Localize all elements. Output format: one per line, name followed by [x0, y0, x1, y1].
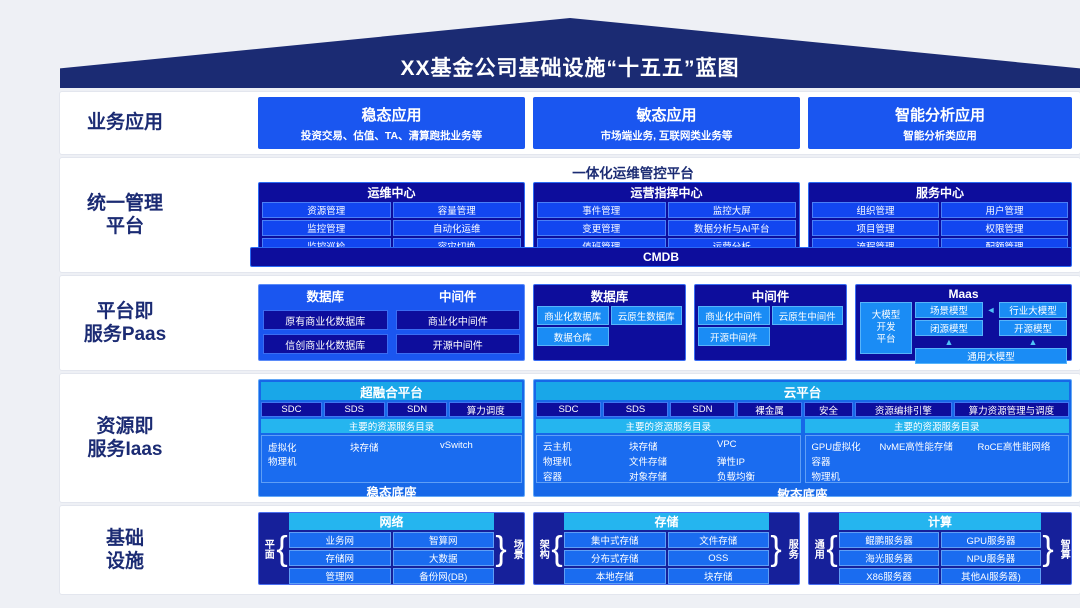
- layer-body-infrastructure: 平面 { 网络 业务网 智算网 存储网 大数据 管理网 备份网(DB): [194, 506, 1072, 594]
- storage-item[interactable]: 块存储: [668, 568, 770, 584]
- cloud-tag[interactable]: SDC: [536, 402, 601, 417]
- cloud-service[interactable]: 对象存储: [629, 469, 667, 483]
- network-title: 网络: [289, 513, 494, 530]
- hci-service[interactable]: 虚拟化: [268, 440, 297, 454]
- maas-closed-model[interactable]: 闭源模型: [915, 320, 983, 336]
- biz-card-analytics[interactable]: 智能分析应用 智能分析类应用: [808, 97, 1072, 149]
- paas-mw-title: 中间件: [396, 285, 521, 306]
- cloud-footer: 敏态底座: [534, 485, 1071, 502]
- network-item[interactable]: 存储网: [289, 550, 391, 566]
- layer-label-line1: 统一管理: [87, 192, 163, 215]
- storage-item[interactable]: 本地存储: [564, 568, 666, 584]
- maas-general-model[interactable]: 通用大模型: [915, 348, 1067, 364]
- brace-left-icon: {: [825, 532, 839, 566]
- layer-label-line2: 服务Iaas: [88, 438, 163, 461]
- cloud-service[interactable]: 文件存储: [629, 454, 667, 468]
- cloud-service[interactable]: VPC: [717, 439, 737, 450]
- group-item[interactable]: 权限管理: [941, 220, 1068, 236]
- group-item[interactable]: 变更管理: [537, 220, 666, 236]
- cloud-service[interactable]: NvME高性能存储: [880, 439, 953, 453]
- hci-tag[interactable]: SDS: [324, 402, 385, 417]
- compute-title: 计算: [839, 513, 1041, 530]
- hci-service[interactable]: vSwitch: [440, 440, 473, 451]
- paas-mw-item[interactable]: 开源中间件: [396, 334, 521, 354]
- group-item[interactable]: 监控管理: [262, 220, 391, 236]
- group-item[interactable]: 组织管理: [812, 202, 939, 218]
- compute-item[interactable]: 鲲鹏服务器: [839, 532, 939, 548]
- paas-db-title: 数据库: [263, 285, 388, 306]
- group-item[interactable]: 事件管理: [537, 202, 666, 218]
- cloud-service-list-left: 云主机 块存储 VPC 物理机 文件存储 弹性IP 容器 对象存储 负载均衡: [536, 435, 801, 483]
- compute-item[interactable]: NPU服务器: [941, 550, 1041, 566]
- network-item[interactable]: 智算网: [393, 532, 495, 548]
- network-right-label: 场景: [508, 513, 524, 584]
- layer-business-application: 业务应用 稳态应用 投资交易、估值、TA、清算跑批业务等 敏态应用 市场端业务,…: [60, 92, 1080, 154]
- paas-mw-item[interactable]: 开源中间件: [698, 327, 770, 346]
- group-item[interactable]: 项目管理: [812, 220, 939, 236]
- paas-db-item[interactable]: 信创商业化数据库: [263, 334, 388, 354]
- paas-mw-item[interactable]: 商业化中间件: [396, 310, 521, 330]
- iaas-hci-platform[interactable]: 超融合平台 SDC SDS SDN 算力调度 主要的资源服务目录 虚拟化 块存储…: [258, 379, 525, 497]
- compute-item[interactable]: 海光服务器: [839, 550, 939, 566]
- maas-dev-platform-line3: 平台: [876, 334, 895, 346]
- cloud-service[interactable]: 物理机: [812, 469, 841, 483]
- cloud-tag[interactable]: 算力资源管理与调度: [954, 402, 1069, 417]
- network-items: 业务网 智算网 存储网 大数据 管理网 备份网(DB): [289, 532, 494, 584]
- compute-item[interactable]: GPU服务器: [941, 532, 1041, 548]
- hci-tag[interactable]: 算力调度: [449, 402, 522, 417]
- infra-network-block[interactable]: 平面 { 网络 业务网 智算网 存储网 大数据 管理网 备份网(DB): [258, 512, 525, 585]
- compute-items: 鲲鹏服务器 GPU服务器 海光服务器 NPU服务器 X86服务器 其他AI服务器…: [839, 532, 1041, 584]
- cloud-tag[interactable]: SDN: [670, 402, 735, 417]
- hci-tag[interactable]: SDN: [387, 402, 448, 417]
- layer-label-infrastructure: 基础 设施: [60, 506, 190, 594]
- cloud-service[interactable]: GPU虚拟化: [812, 439, 861, 453]
- cloud-catalog-title-right: 主要的资源服务目录: [805, 419, 1070, 433]
- maas-title: Maas: [856, 285, 1071, 302]
- layer-label-line1: 平台即: [84, 300, 166, 323]
- cloud-service[interactable]: 块存储: [629, 439, 658, 453]
- layer-infrastructure: 基础 设施 平面 { 网络 业务网 智算网 存储网 大数据: [60, 506, 1080, 594]
- biz-card-stable[interactable]: 稳态应用 投资交易、估值、TA、清算跑批业务等: [258, 97, 525, 149]
- paas-db-item[interactable]: 数据仓库: [537, 327, 609, 346]
- hci-service[interactable]: 块存储: [350, 440, 379, 454]
- maas-open-model[interactable]: 开源模型: [999, 320, 1067, 336]
- cloud-service[interactable]: 物理机: [543, 454, 572, 468]
- storage-item[interactable]: 分布式存储: [564, 550, 666, 566]
- compute-right-label: 智算: [1055, 513, 1071, 584]
- paas-db-title: 数据库: [534, 285, 685, 306]
- layer-paas: 平台即 服务Paas 数据库 原有商业化数据库 信创商业化数据库 中间件 商业化…: [60, 276, 1080, 370]
- maas-dev-platform-line2: 开发: [876, 322, 895, 334]
- group-item[interactable]: 监控大屏: [668, 202, 797, 218]
- hci-service-list: 虚拟化 块存储 vSwitch 物理机: [261, 435, 522, 483]
- storage-title: 存储: [564, 513, 769, 530]
- cloud-service[interactable]: 负载均衡: [717, 469, 755, 483]
- page-title: XX基金公司基础设施“十五五”蓝图: [60, 52, 1080, 82]
- network-item[interactable]: 管理网: [289, 568, 391, 584]
- paas-db-item[interactable]: 云原生数据库: [611, 306, 683, 325]
- group-title: 运维中心: [259, 183, 524, 202]
- cloud-tag[interactable]: 资源编排引擎: [855, 402, 951, 417]
- maas-dev-platform-line1: 大模型: [872, 310, 901, 322]
- brace-left-icon: {: [275, 532, 289, 566]
- brace-right-icon: }: [1041, 532, 1055, 566]
- paas-maas-group[interactable]: Maas 大模型 开发 平台 场景模型 ◄ 行业大模型: [855, 284, 1072, 361]
- layer-body-business: 稳态应用 投资交易、估值、TA、清算跑批业务等 敏态应用 市场端业务, 互联网类…: [194, 92, 1072, 154]
- paas-agile-middleware[interactable]: 中间件 商业化中间件 云原生中间件 开源中间件: [694, 284, 847, 361]
- cloud-title: 云平台: [536, 382, 1069, 400]
- group-item[interactable]: 用户管理: [941, 202, 1068, 218]
- blueprint-diagram: XX基金公司基础设施“十五五”蓝图 业务应用 稳态应用 投资交易、估值、TA、清…: [0, 0, 1080, 608]
- cloud-service[interactable]: RoCE高性能网络: [978, 439, 1051, 453]
- group-item[interactable]: 自动化运维: [393, 220, 522, 236]
- group-item[interactable]: 数据分析与AI平台: [668, 220, 797, 236]
- cmdb-bar[interactable]: CMDB: [250, 247, 1072, 267]
- brace-left-icon: {: [550, 532, 564, 566]
- paas-mw-item[interactable]: 商业化中间件: [698, 306, 770, 325]
- maas-scene-model[interactable]: 场景模型: [915, 302, 983, 318]
- network-item[interactable]: 大数据: [393, 550, 495, 566]
- paas-agile-database[interactable]: 数据库 商业化数据库 云原生数据库 数据仓库: [533, 284, 686, 361]
- layer-label-business: 业务应用: [60, 92, 190, 154]
- biz-card-sub: 投资交易、估值、TA、清算跑批业务等: [301, 128, 482, 143]
- hci-footer: 稳态底座: [259, 483, 524, 500]
- storage-item[interactable]: 文件存储: [668, 532, 770, 548]
- maas-dev-platform[interactable]: 大模型 开发 平台: [860, 302, 912, 354]
- hci-title: 超融合平台: [261, 382, 522, 400]
- storage-item[interactable]: OSS: [668, 550, 770, 566]
- roof-banner: XX基金公司基础设施“十五五”蓝图: [60, 18, 1080, 88]
- biz-card-agile[interactable]: 敏态应用 市场端业务, 互联网类业务等: [533, 97, 800, 149]
- cloud-tag[interactable]: 安全: [804, 402, 853, 417]
- layer-body-iaas: 超融合平台 SDC SDS SDN 算力调度 主要的资源服务目录 虚拟化 块存储…: [194, 374, 1072, 502]
- storage-item[interactable]: 集中式存储: [564, 532, 666, 548]
- cloud-catalog-title-left: 主要的资源服务目录: [536, 419, 801, 433]
- paas-mw-item[interactable]: 云原生中间件: [772, 306, 844, 325]
- cloud-tag[interactable]: 裸金属: [737, 402, 802, 417]
- group-title: 服务中心: [809, 183, 1071, 202]
- brace-right-icon: }: [769, 532, 783, 566]
- arrow-up-icon: ▲: [915, 338, 983, 346]
- cloud-service[interactable]: 云主机: [543, 439, 572, 453]
- cloud-tag[interactable]: SDS: [603, 402, 668, 417]
- network-item[interactable]: 业务网: [289, 532, 391, 548]
- hci-service[interactable]: 物理机: [268, 454, 297, 468]
- cloud-service[interactable]: 容器: [812, 454, 831, 468]
- layer-label-paas: 平台即 服务Paas: [60, 276, 190, 370]
- layer-label-line1: 基础: [106, 527, 144, 550]
- group-item[interactable]: 资源管理: [262, 202, 391, 218]
- storage-right-label: 服务: [783, 513, 799, 584]
- layer-label-line2: 设施: [106, 550, 144, 573]
- cloud-service[interactable]: 容器: [543, 469, 562, 483]
- hci-catalog-title: 主要的资源服务目录: [261, 419, 522, 433]
- paas-db-item[interactable]: 原有商业化数据库: [263, 310, 388, 330]
- infra-compute-block[interactable]: 通用 { 计算 鲲鹏服务器 GPU服务器 海光服务器 NPU服务器 X86服务器…: [808, 512, 1072, 585]
- paas-mw-title: 中间件: [695, 285, 846, 306]
- layer-body-paas: 数据库 原有商业化数据库 信创商业化数据库 中间件 商业化中间件 开源中间件 数…: [194, 276, 1072, 370]
- biz-card-title: 敏态应用: [636, 104, 696, 125]
- paas-db-item[interactable]: 商业化数据库: [537, 306, 609, 325]
- brace-right-icon: }: [494, 532, 508, 566]
- storage-items: 集中式存储 文件存储 分布式存储 OSS 本地存储 块存储: [564, 532, 769, 584]
- compute-left-label: 通用: [809, 513, 825, 584]
- cloud-service-list-right: GPU虚拟化 NvME高性能存储 RoCE高性能网络 容器 物理机: [805, 435, 1070, 483]
- arrow-left-icon: ◄: [985, 302, 997, 318]
- layer-label-line2: 平台: [87, 215, 163, 238]
- group-item[interactable]: 容量管理: [393, 202, 522, 218]
- network-item[interactable]: 备份网(DB): [393, 568, 495, 584]
- paas-stable-group[interactable]: 数据库 原有商业化数据库 信创商业化数据库 中间件 商业化中间件 开源中间件: [258, 284, 525, 361]
- storage-left-label: 架构: [534, 513, 550, 584]
- unified-platform-caption: 一体化运维管控平台: [194, 162, 1072, 182]
- layer-label-line2: 服务Paas: [84, 323, 166, 346]
- biz-card-title: 智能分析应用: [895, 104, 985, 125]
- biz-card-title: 稳态应用: [361, 104, 421, 125]
- layer-unified-management: 统一管理 平台 一体化运维管控平台 运维中心 资源管理 容量管理 监控管理 自动…: [60, 158, 1080, 272]
- iaas-cloud-platform[interactable]: 云平台 SDC SDS SDN 裸金属 安全 资源编排引擎 算力资源管理与调度 …: [533, 379, 1072, 497]
- layer-label-unified: 统一管理 平台: [60, 158, 190, 272]
- biz-card-sub: 智能分析类应用: [903, 128, 977, 143]
- layer-body-unified: 一体化运维管控平台 运维中心 资源管理 容量管理 监控管理 自动化运维 监控巡检…: [194, 158, 1072, 272]
- layer-label-iaas: 资源即 服务Iaas: [60, 374, 190, 502]
- arrow-up-icon: ▲: [999, 338, 1067, 346]
- compute-item[interactable]: 其他AI服务器): [941, 568, 1041, 584]
- group-title: 运营指挥中心: [534, 183, 799, 202]
- maas-industry-model[interactable]: 行业大模型: [999, 302, 1067, 318]
- layer-iaas: 资源即 服务Iaas 超融合平台 SDC SDS SDN 算力调度 主要的资源服…: [60, 374, 1080, 502]
- biz-card-sub: 市场端业务, 互联网类业务等: [601, 128, 733, 143]
- compute-item[interactable]: X86服务器: [839, 568, 939, 584]
- layer-label-line1: 资源即: [88, 415, 163, 438]
- hci-tag[interactable]: SDC: [261, 402, 322, 417]
- cloud-service[interactable]: 弹性IP: [717, 454, 745, 468]
- network-left-label: 平面: [259, 513, 275, 584]
- infra-storage-block[interactable]: 架构 { 存储 集中式存储 文件存储 分布式存储 OSS 本地存储 块存储: [533, 512, 800, 585]
